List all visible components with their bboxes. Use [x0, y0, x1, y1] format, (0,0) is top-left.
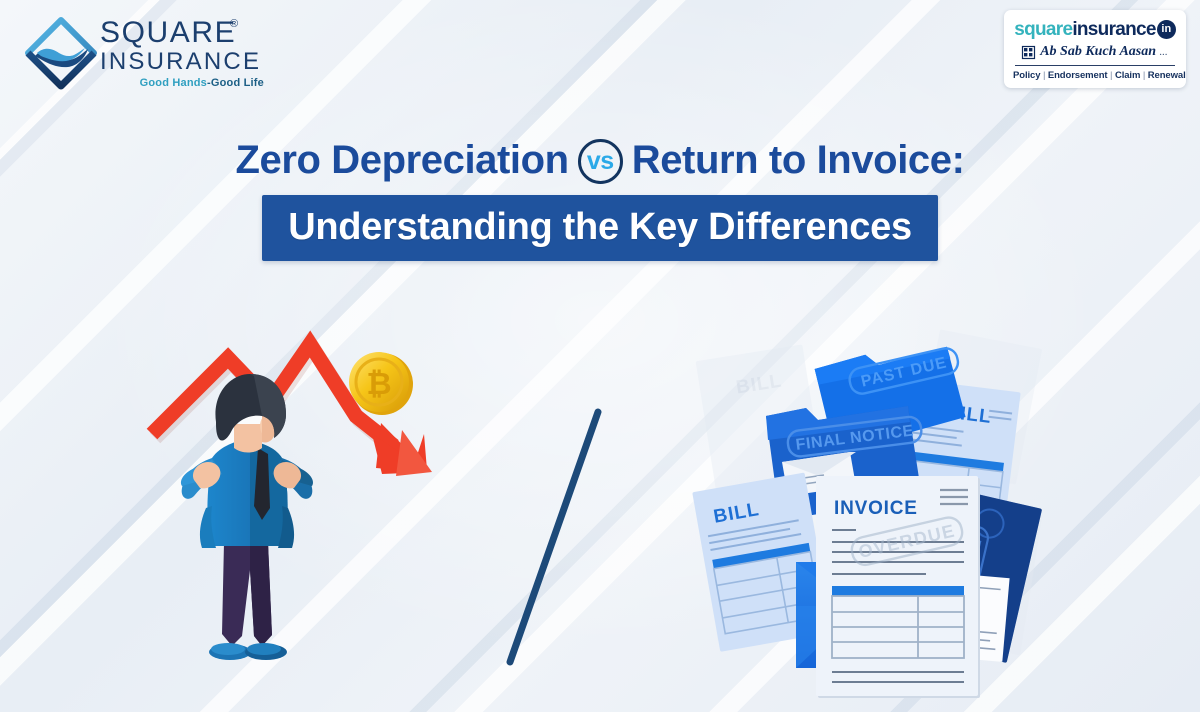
headline-line-2: Understanding the Key Differences: [288, 206, 912, 248]
badge-services-row: Policy | Endorsement | Claim | Renewal: [1013, 70, 1177, 81]
headline-band: Understanding the Key Differences: [262, 195, 938, 261]
logo-tagline-part1: Good Hands: [140, 77, 207, 89]
badge-divider: [1015, 65, 1175, 66]
svg-text:INVOICE: INVOICE: [834, 498, 918, 519]
logo-tagline: Good Hands-Good Life: [100, 77, 264, 89]
invoice-documents-illustration: BILL BILL: [700, 330, 1040, 680]
logo-line-2: INSURANCE: [100, 49, 264, 75]
badge-sep-3: |: [1143, 70, 1145, 81]
headline-term-right: Return to Invoice:: [632, 134, 965, 186]
square-insurance-logo[interactable]: SQUARE INSURANCE Good Hands-Good Life ®: [24, 12, 264, 104]
badge-service-policy[interactable]: Policy: [1013, 70, 1040, 81]
vs-badge-icon: vs: [578, 139, 623, 184]
badge-hindi-ellipsis: ...: [1160, 46, 1168, 58]
diagonal-slash-divider: [480, 390, 640, 680]
svg-text:₿: ₿: [366, 366, 391, 401]
headline-band-wrapper: Understanding the Key Differences: [0, 195, 1200, 261]
badge-sep-2: |: [1110, 70, 1112, 81]
logo-line-1: SQUARE: [100, 18, 264, 48]
badge-service-renewal[interactable]: Renewal: [1148, 70, 1186, 81]
badge-word-square: square: [1014, 20, 1072, 39]
headline-line-1: Zero Depreciation vs Return to Invoice:: [0, 134, 1200, 186]
depreciation-illustration: ₿: [150, 330, 470, 690]
invoice-document: INVOICE OVERDUE: [816, 476, 980, 698]
diamond-hands-icon: [24, 16, 98, 94]
squareinsurance-website-badge[interactable]: square insurance in Ab Sab Kuch Aasan ..…: [1004, 10, 1186, 88]
headline-block: Zero Depreciation vs Return to Invoice: …: [0, 134, 1200, 261]
logo-tagline-part2: Good Life: [211, 77, 264, 89]
grid-icon: [1022, 46, 1035, 59]
badge-hindi-text: Ab Sab Kuch Aasan: [1040, 44, 1156, 59]
badge-hindi-tagline: Ab Sab Kuch Aasan ...: [1040, 44, 1168, 60]
badge-word-insurance: insurance: [1072, 20, 1155, 39]
registered-trademark-icon: ®: [230, 18, 238, 30]
promo-banner: SQUARE INSURANCE Good Hands-Good Life ® …: [0, 0, 1200, 712]
badge-sep-1: |: [1043, 70, 1045, 81]
badge-wordmark-row: square insurance in: [1013, 18, 1177, 40]
badge-service-claim[interactable]: Claim: [1115, 70, 1140, 81]
badge-service-endorsement[interactable]: Endorsement: [1048, 70, 1108, 81]
badge-domain-in: in: [1157, 20, 1176, 39]
worried-person-icon: [181, 374, 313, 660]
headline-term-left: Zero Depreciation: [235, 134, 568, 186]
logo-wordmark: SQUARE INSURANCE Good Hands-Good Life: [100, 18, 264, 89]
badge-tagline-row: Ab Sab Kuch Aasan ...: [1013, 43, 1177, 61]
